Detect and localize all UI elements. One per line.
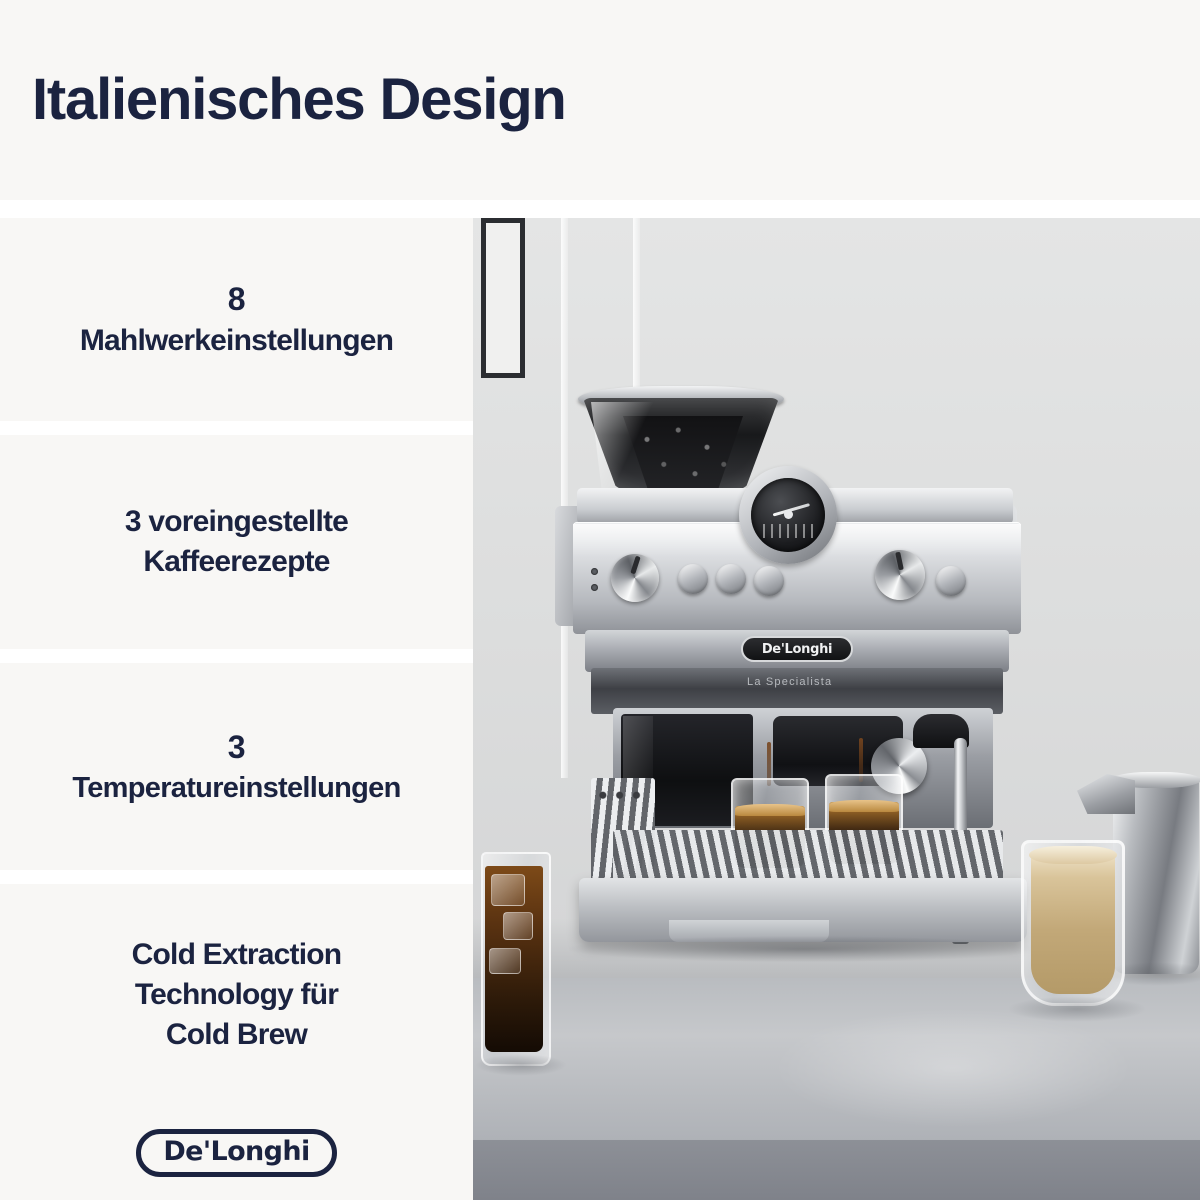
feature-list: 8 Mahlwerkeinstellungen 3 voreingestellt…: [0, 218, 473, 1200]
machine-model-text: La Specialista: [747, 676, 832, 688]
feature-label: Mahlwerkeinstellungen: [80, 321, 393, 361]
espresso-machine: De'Longhi La Specialista: [473, 218, 1200, 1200]
product-photo: De'Longhi La Specialista: [473, 218, 1200, 1200]
cold-brew-glass-shadow: [475, 1054, 567, 1076]
cup-warming-grate-holes: [595, 784, 651, 812]
feature-item-recipes: 3 voreingestellte Kaffeerezepte: [0, 435, 473, 650]
feature-number: 3: [228, 726, 246, 769]
feature-item-grind-settings: 8 Mahlwerkeinstellungen: [0, 218, 473, 421]
feature-label-line-2: Technology für: [135, 975, 338, 1015]
ice-cube: [491, 874, 525, 906]
feature-number: 8: [228, 278, 246, 321]
product-feature-panel: Italienisches Design 8 Mahlwerkeinstellu…: [0, 0, 1200, 1200]
page-title: Italienisches Design: [32, 71, 566, 129]
feature-label: Temperatureinstellungen: [72, 769, 400, 808]
feature-label-line-2: Kaffeerezepte: [143, 542, 329, 582]
feature-label-line-3: Cold Brew: [166, 1015, 307, 1055]
pressure-gauge-hub: [784, 510, 793, 519]
espresso-crema: [735, 804, 805, 816]
header: Italienisches Design: [0, 0, 1200, 200]
feature-item-cold-extraction: Cold Extraction Technology für Cold Brew: [0, 884, 473, 1106]
delonghi-logo: De'Longhi: [136, 1129, 336, 1177]
machine-brand-badge: De'Longhi: [741, 636, 853, 662]
status-led: [591, 568, 598, 575]
single-shot-button[interactable]: [678, 564, 708, 594]
feature-divider: [0, 870, 473, 884]
ice-cube: [489, 948, 521, 974]
drip-tray-grate: [613, 830, 1003, 884]
feature-divider: [0, 649, 473, 663]
delonghi-logo-text: De'Longhi: [163, 1136, 309, 1167]
espresso-crema: [829, 800, 899, 812]
brand-logo-container: De'Longhi: [0, 1106, 473, 1200]
machine-brand-badge-text: De'Longhi: [762, 642, 832, 657]
pressure-gauge-ticks: [763, 524, 813, 538]
feature-label-line-1: Cold Extraction: [132, 935, 342, 975]
hot-water-button[interactable]: [936, 566, 966, 596]
double-shot-button[interactable]: [716, 564, 746, 594]
latte-liquid: [1031, 852, 1115, 994]
machine-shadow: [569, 936, 1039, 962]
latte-foam: [1029, 846, 1117, 864]
feature-label-line-1: 3 voreingestellte: [125, 502, 348, 542]
feature-divider: [0, 421, 473, 435]
feature-item-temperature-settings: 3 Temperatureinstellungen: [0, 663, 473, 870]
latte-glass-shadow: [1007, 996, 1147, 1022]
cold-brew-button[interactable]: [754, 566, 784, 596]
status-led: [591, 584, 598, 591]
ice-cube: [503, 912, 533, 940]
header-divider: [0, 200, 1200, 218]
